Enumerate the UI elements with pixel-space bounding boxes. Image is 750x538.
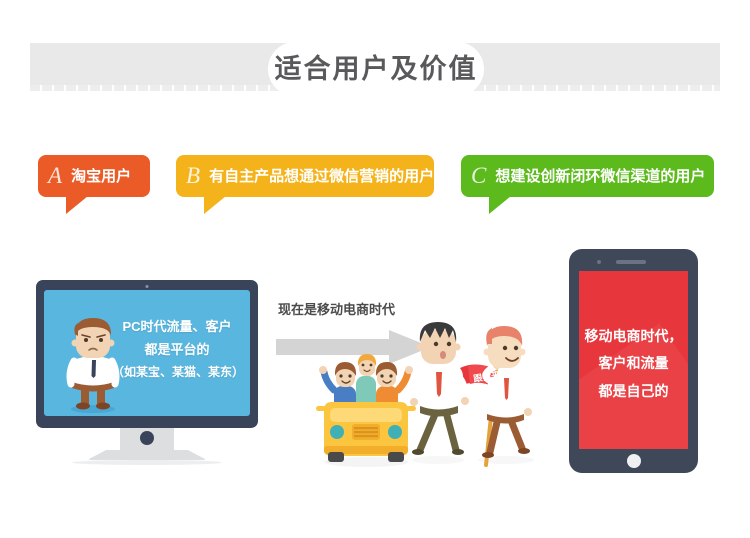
tablet-text-line-2: 客户和流量: [579, 350, 688, 377]
runner-shadow: [412, 456, 464, 464]
callout-a[interactable]: A 淘宝用户: [38, 155, 150, 197]
callout-b-letter: B: [186, 164, 200, 189]
tablet-screen-text: 移动电商时代， 客户和流量 都是自己的: [579, 323, 688, 405]
monitor-text-line-2: 都是平台的: [112, 339, 242, 362]
callout-c-label: 想建设创新闭环微信渠道的用户: [495, 169, 705, 184]
tablet-home-button[interactable]: [627, 454, 641, 468]
tablet-text-line-1: 移动电商时代，: [579, 323, 688, 350]
callout-a-tail: [66, 196, 88, 214]
title-pill: 适合用户及价值: [268, 42, 484, 96]
wheel-right: [388, 452, 404, 462]
monitor-bezel: PC时代流量、客户 都是平台的 （如某宝、某猫、某东）: [36, 280, 258, 428]
monitor-neck: [120, 428, 174, 450]
callout-b-label: 有自主产品想通过微信营销的用户: [209, 169, 434, 184]
monitor-screen: PC时代流量、客户 都是平台的 （如某宝、某猫、某东）: [44, 290, 250, 416]
callout-a-label: 淘宝用户: [71, 169, 131, 184]
tablet-screen: 移动电商时代， 客户和流量 都是自己的: [579, 271, 688, 449]
callout-b[interactable]: B 有自主产品想通过微信营销的用户: [176, 155, 434, 197]
callout-c[interactable]: C 想建设创新闭环微信渠道的用户: [461, 155, 714, 197]
wheel-left: [328, 452, 344, 462]
monitor-camera-icon: [146, 285, 149, 288]
desktop-monitor-illustration: PC时代流量、客户 都是平台的 （如某宝、某猫、某东）: [36, 280, 258, 465]
tablet-illustration: 移动电商时代， 客户和流量 都是自己的: [569, 249, 698, 473]
callout-b-tail: [204, 196, 226, 214]
callout-c-tail: [489, 196, 511, 214]
callout-a-letter: A: [48, 164, 62, 189]
monitor-text-line-3: （如某宝、某猫、某东）: [112, 362, 242, 383]
headlight-right: [388, 425, 402, 439]
tablet-camera-icon: [597, 260, 601, 264]
page-title: 适合用户及价值: [275, 56, 478, 83]
monitor-power-button[interactable]: [140, 431, 154, 445]
monitor-base: [87, 450, 207, 460]
monitor-screen-text: PC时代流量、客户 都是平台的 （如某宝、某猫、某东）: [112, 316, 242, 383]
car-with-passengers-icon: [316, 354, 416, 462]
monitor-shadow: [72, 460, 222, 465]
running-person-icon: [410, 322, 469, 455]
people-illustration-group: 跟我来！: [310, 300, 560, 475]
headlight-left: [330, 425, 344, 439]
tablet-text-line-3: 都是自己的: [579, 378, 688, 405]
monitor-text-line-1: PC时代流量、客户: [112, 316, 242, 339]
callout-c-letter: C: [471, 164, 486, 189]
tablet-speaker-icon: [616, 260, 646, 264]
